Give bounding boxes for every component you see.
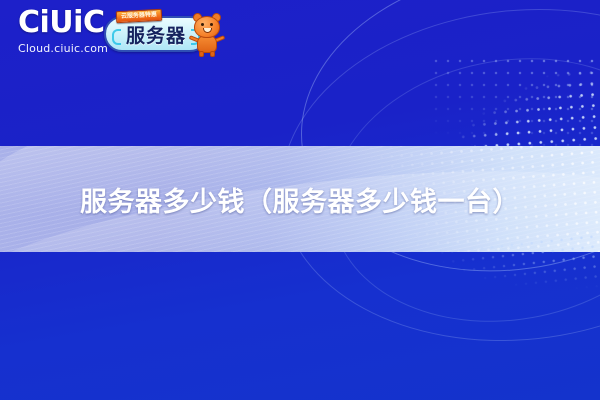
badge-ribbon: 云服务器特惠 [116, 9, 163, 23]
page-title: 服务器多少钱（服务器多少钱一台） [0, 146, 600, 252]
brand-logo: CiUiC Cloud.ciuic.com [18, 8, 108, 54]
mascot-head [194, 16, 220, 38]
brand-domain: Cloud.ciuic.com [18, 43, 108, 54]
mascot-leg-right [210, 51, 215, 57]
server-badge: 服务器 云服务器特惠 [104, 10, 228, 58]
mascot-icon [186, 12, 230, 58]
mascot-eye-left [201, 23, 204, 26]
mascot-eye-right [210, 23, 213, 26]
mascot-leg-left [199, 51, 204, 57]
banner-image: CiUiC Cloud.ciuic.com 服务器 云服务器特惠 [0, 0, 600, 400]
brand-wordmark: CiUiC [18, 8, 108, 38]
title-band: 服务器多少钱（服务器多少钱一台） [0, 146, 600, 252]
